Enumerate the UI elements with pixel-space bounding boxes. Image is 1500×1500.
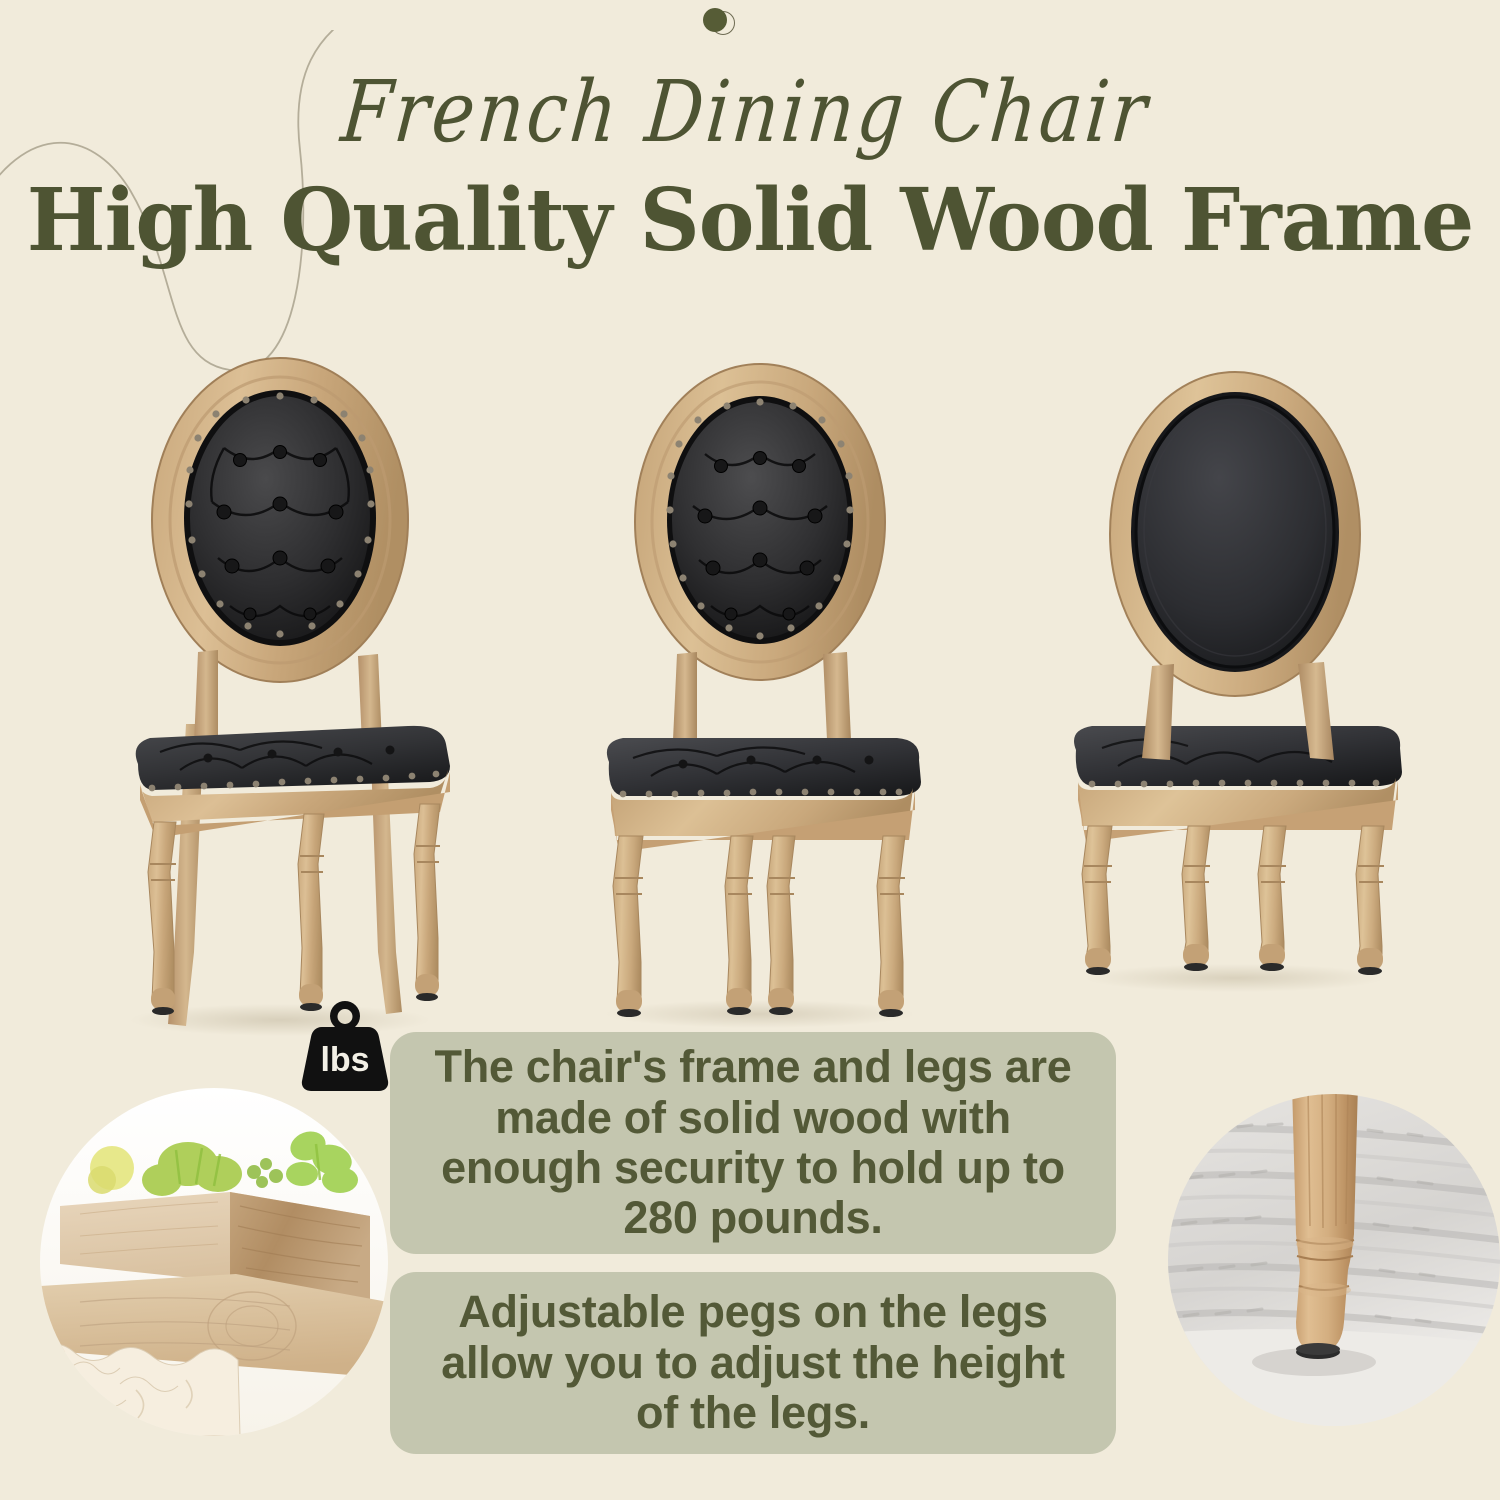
weight-capacity-badge: lbs: [300, 997, 390, 1095]
adjustable-pegs-text: Adjustable pegs on the legs allow you to…: [416, 1287, 1090, 1438]
chair-front[interactable]: [565, 362, 955, 1034]
weight-capacity-text: The chair's frame and legs are made of s…: [416, 1042, 1090, 1244]
weight-capacity-callout: The chair's frame and legs are made of s…: [390, 1032, 1116, 1254]
adjustable-pegs-callout: Adjustable pegs on the legs allow you to…: [390, 1272, 1116, 1454]
chair-leg-on-rug-photo[interactable]: [1168, 1094, 1500, 1426]
solid-wood-blocks-photo[interactable]: [40, 1088, 388, 1436]
lbs-label: lbs: [320, 1041, 369, 1079]
page-title: High Quality Solid Wood Frame: [23, 170, 1478, 271]
chair-back[interactable]: [1040, 358, 1430, 998]
olive-dot-icon: [703, 8, 727, 32]
chair-front-left-angle[interactable]: [90, 352, 490, 1042]
poster-canvas: French Dining Chair High Quality Solid W…: [0, 0, 1500, 1500]
script-subtitle: French Dining Chair: [0, 62, 1500, 161]
